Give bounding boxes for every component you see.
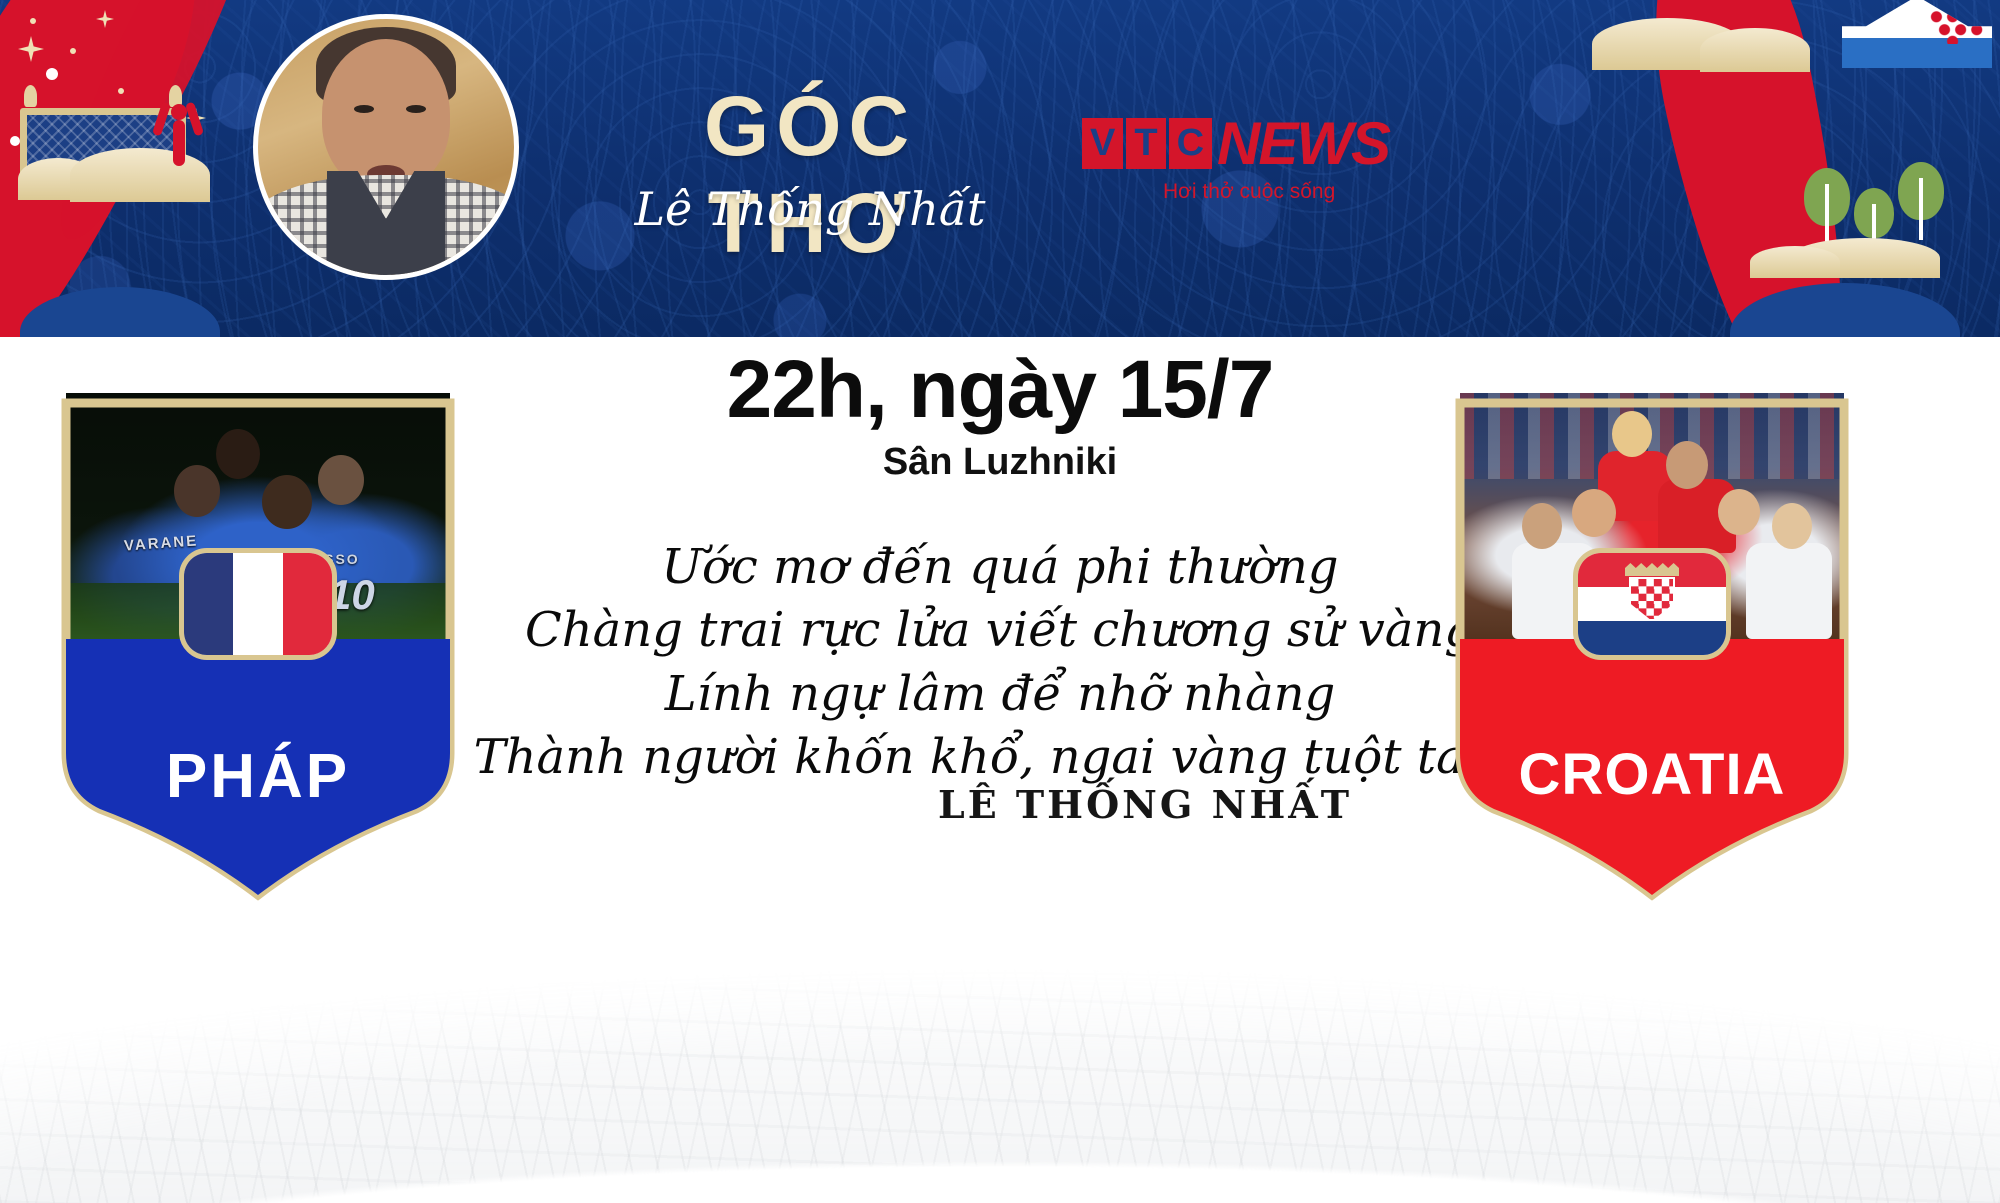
team-badge-right[interactable]: CROATIA [1442, 385, 1862, 925]
logo-news-word: NEWS [1217, 118, 1389, 169]
avatar [253, 14, 519, 280]
gold-dot-icon [70, 48, 76, 54]
logo-letter-v: V [1082, 118, 1123, 169]
france-flag-icon [179, 548, 337, 660]
poem-signature-text: LÊ THỐNG NHẤT [938, 782, 1352, 827]
avatar-eye [354, 105, 374, 113]
main-stage: 22h, ngày 15/7 Sân Luzhniki Ước mơ đến q… [0, 337, 2000, 1203]
jersey-name-varane: VARANE [123, 532, 198, 554]
white-dot-icon [10, 136, 20, 146]
croatia-flag-icon [1573, 548, 1731, 660]
celebrating-figure-icon [155, 98, 201, 170]
poem-line: Lính ngự lâm để nhỡ nhàng [420, 663, 1580, 726]
match-venue: Sân Luzhniki [420, 441, 1580, 484]
vtc-news-tagline: Hơi thở cuộc sống [1163, 180, 1335, 204]
logo-letter-c: C [1169, 118, 1212, 169]
birch-tree-icon [1898, 162, 1944, 240]
match-time: 22h, ngày 15/7 [420, 343, 1580, 437]
gold-cloud-icon [1700, 28, 1810, 72]
vtc-news-logo[interactable]: V T C NEWS [1082, 118, 1389, 169]
team-name-right: CROATIA [1442, 741, 1862, 808]
team-name-left: PHÁP [48, 741, 468, 812]
avatar-eye [406, 105, 426, 113]
gold-cloud-icon [1750, 246, 1840, 278]
poem-signature: LÊ THỐNG NHẤT [420, 782, 1606, 827]
stadium-watermark [0, 903, 2000, 1203]
poem-line: Thành người khốn khổ, ngai vàng tuột tay… [420, 726, 1580, 789]
program-author: Lê Thống Nhất [600, 182, 1020, 236]
poem-line: Ước mơ đến quá phi thường [420, 536, 1580, 599]
gold-dot-icon [30, 18, 36, 24]
poem-line: Chàng trai rực lửa viết chương sử vàng [420, 599, 1580, 662]
white-dot-icon [46, 68, 58, 80]
program-title: GÓC THƠ [600, 78, 1020, 272]
croatia-coat-of-arms-icon [1629, 563, 1675, 621]
header-banner: GÓC THƠ Lê Thống Nhất V T C NEWS Hơi thở… [0, 0, 2000, 337]
match-info-column: 22h, ngày 15/7 Sân Luzhniki Ước mơ đến q… [420, 337, 1580, 789]
poem-block: Ước mơ đến quá phi thường Chàng trai rực… [420, 536, 1580, 789]
birch-tree-icon [1804, 168, 1850, 246]
logo-letter-t: T [1126, 118, 1165, 169]
team-badge-left[interactable]: VARANE USSO 10 PHÁP [48, 385, 468, 925]
gold-dot-icon [118, 88, 124, 94]
